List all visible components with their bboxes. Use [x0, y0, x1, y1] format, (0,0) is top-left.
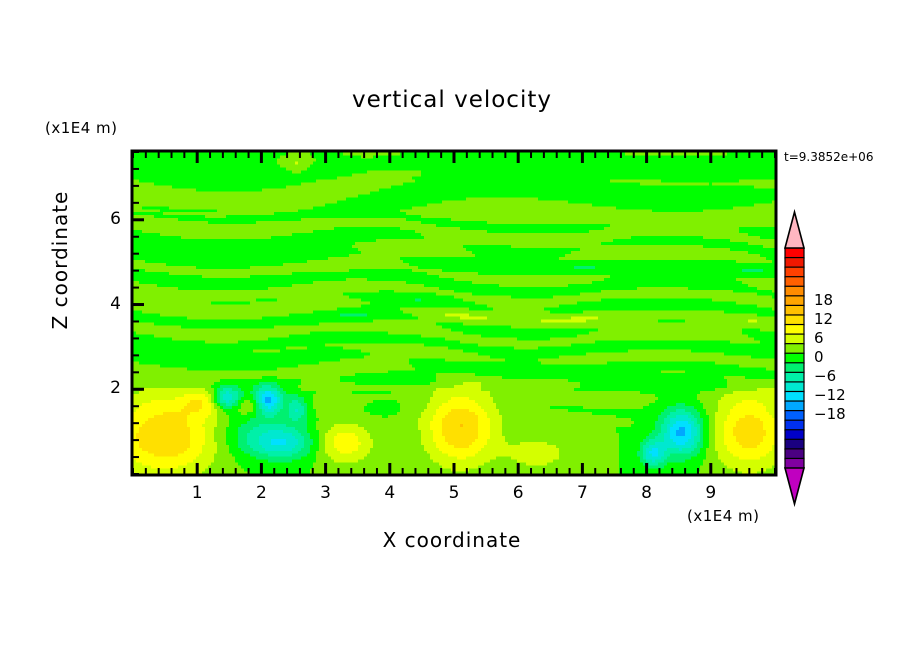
colorbar-tick-label: −6 [814, 367, 858, 385]
x-tick-label: 2 [246, 483, 276, 503]
colorbar-tick-label: 0 [814, 348, 858, 366]
x-tick-label: 9 [696, 483, 726, 503]
y-tick-label: 2 [99, 378, 121, 398]
x-tick-label: 3 [311, 483, 341, 503]
colorbar-tick-label: 6 [814, 329, 858, 347]
colorbar-tick-label: 18 [814, 291, 858, 309]
x-tick-label: 8 [632, 483, 662, 503]
colorbar-tick-label: −12 [814, 386, 858, 404]
colorbar-tick-label: 12 [814, 310, 858, 328]
x-tick-label: 7 [567, 483, 597, 503]
y-tick-label: 4 [99, 294, 121, 314]
x-tick-label: 1 [182, 483, 212, 503]
x-tick-label: 5 [439, 483, 469, 503]
x-tick-label: 4 [375, 483, 405, 503]
contour-plot [0, 0, 904, 654]
x-tick-label: 6 [503, 483, 533, 503]
y-tick-label: 6 [99, 209, 121, 229]
figure-canvas: vertical velocity (x1E4 m) (x1E4 m) X co… [0, 0, 904, 654]
colorbar-tick-label: −18 [814, 405, 858, 423]
